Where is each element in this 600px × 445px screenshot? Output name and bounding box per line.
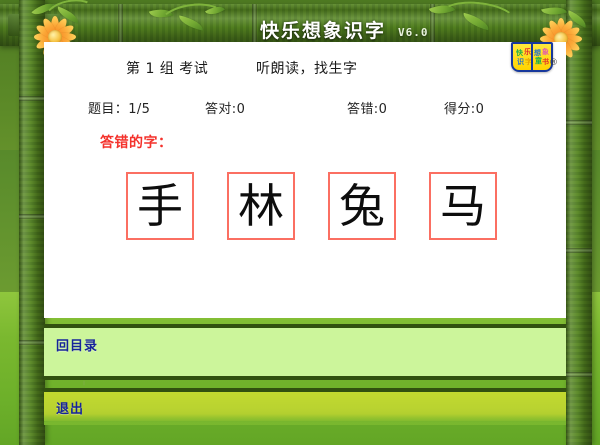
logo-glyph: 想 bbox=[534, 50, 541, 57]
registered-trademark-icon: ® bbox=[549, 58, 558, 68]
stat-score: 得分:0 bbox=[444, 98, 484, 117]
page-title: 快乐想象识字 bbox=[260, 16, 386, 43]
brand-logo: 快 乐 想 象 识 字 童 书 ® bbox=[511, 42, 553, 72]
character-card[interactable]: 马 bbox=[429, 172, 497, 240]
back-to-menu-label: 回目录 bbox=[56, 335, 98, 354]
logo-glyph: 童 bbox=[535, 58, 542, 65]
version-label: V6.0 bbox=[398, 26, 429, 39]
logo-glyph: 识 bbox=[517, 59, 524, 66]
instruction-label: 听朗读，找生字 bbox=[256, 58, 358, 78]
book-logo-icon: 快 乐 想 象 识 字 童 书 bbox=[511, 42, 553, 72]
bamboo-left-post-icon bbox=[19, 0, 45, 445]
character-card[interactable]: 林 bbox=[227, 172, 295, 240]
flashcard-app-window: 快乐想象识字 V6.0 第 1 组 考试 听朗读，找生字 题目：1/5 答对:0… bbox=[0, 0, 600, 445]
stats-row: 题目：1/5 答对:0 答错:0 得分:0 bbox=[44, 98, 566, 118]
stat-correct-count: 答对:0 bbox=[205, 98, 245, 117]
card-title-row: 第 1 组 考试 听朗读，找生字 bbox=[44, 58, 566, 80]
logo-glyph: 乐 bbox=[524, 49, 531, 56]
logo-glyph: 象 bbox=[542, 49, 549, 56]
character-card[interactable]: 手 bbox=[126, 172, 194, 240]
exit-label: 退出 bbox=[56, 398, 84, 417]
logo-glyph: 字 bbox=[525, 59, 532, 66]
back-to-menu-button[interactable]: 回目录 bbox=[44, 324, 566, 380]
wrong-answers-label: 答错的字： bbox=[100, 132, 173, 152]
exit-button[interactable]: 退出 bbox=[44, 388, 566, 421]
logo-glyph: 书 bbox=[542, 59, 549, 66]
wrong-characters-row: 手 林 兔 马 bbox=[126, 172, 526, 242]
logo-glyph: 快 bbox=[516, 50, 523, 57]
content-card: 第 1 组 考试 听朗读，找生字 题目：1/5 答对:0 答错:0 得分:0 答… bbox=[44, 42, 566, 318]
stat-wrong-count: 答错:0 bbox=[347, 98, 387, 117]
stat-question-progress: 题目：1/5 bbox=[88, 98, 150, 117]
character-card[interactable]: 兔 bbox=[328, 172, 396, 240]
bamboo-right-post-icon bbox=[566, 0, 592, 445]
group-label: 第 1 组 考试 bbox=[126, 58, 208, 78]
